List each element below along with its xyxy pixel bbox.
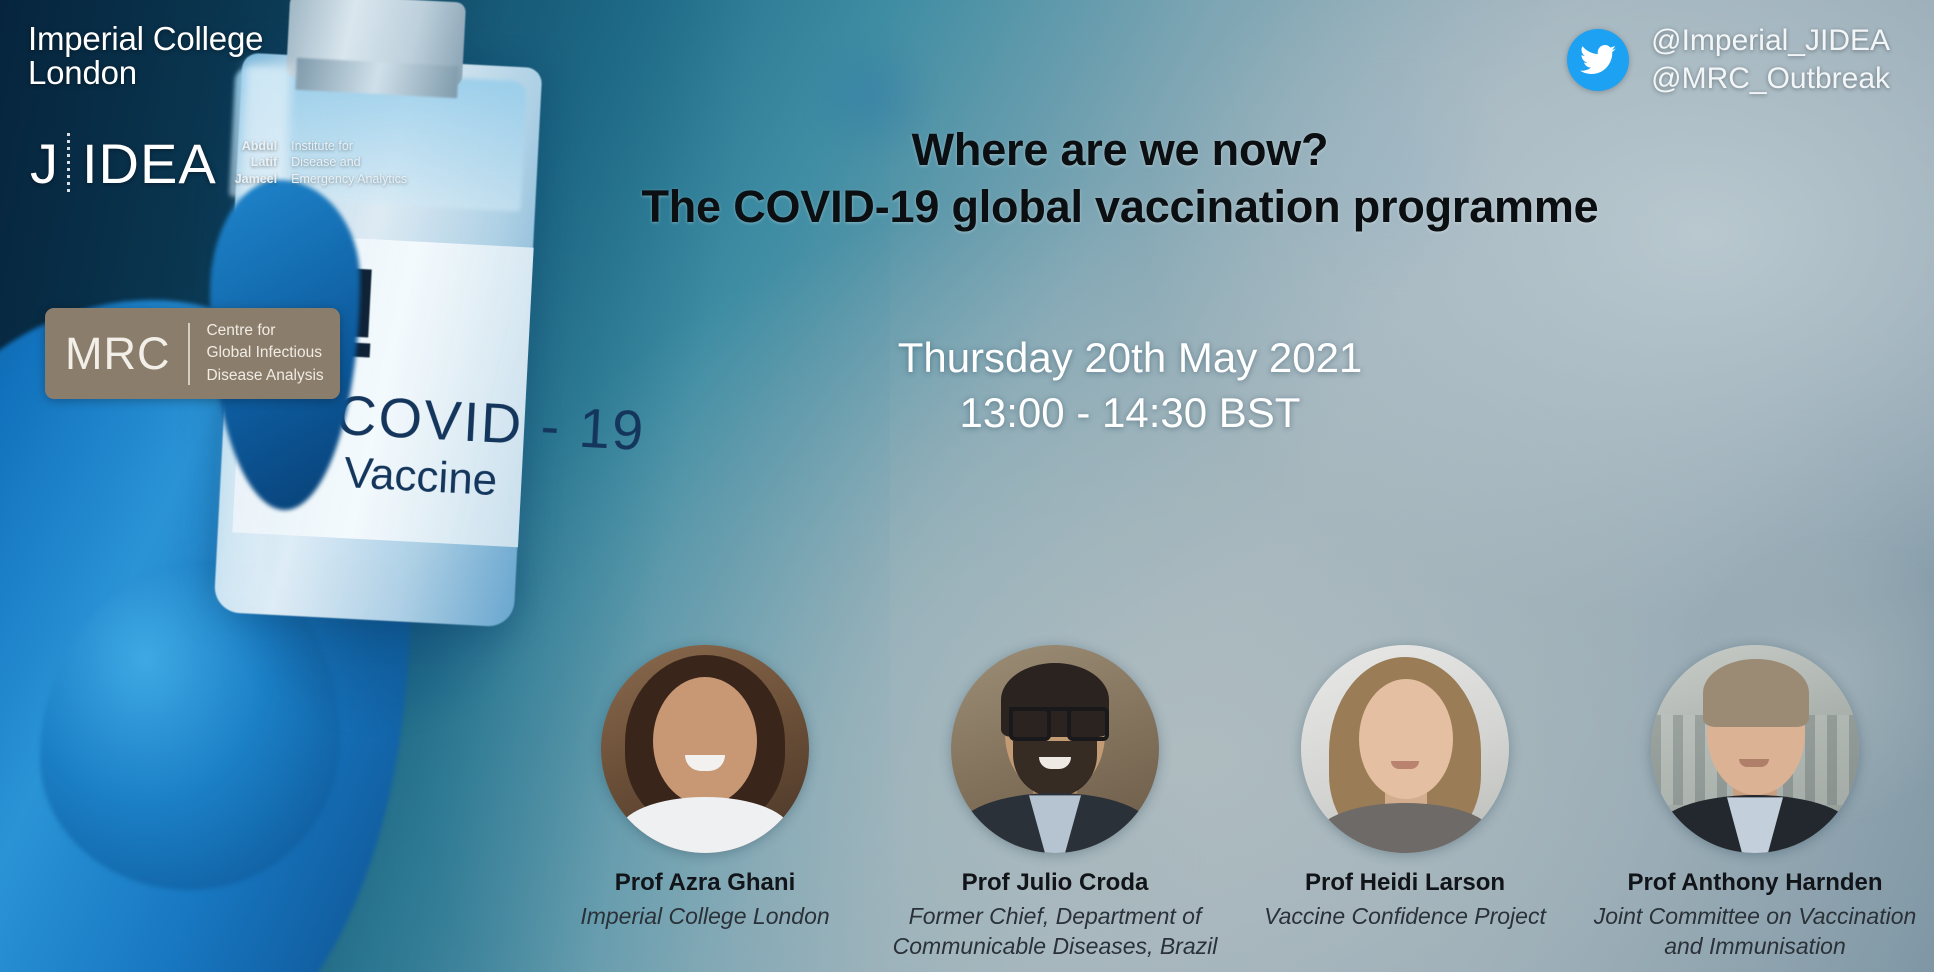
speaker-card: Prof Azra Ghani Imperial College London: [540, 645, 870, 932]
jidea-subtitle-institute: Institute for Disease and Emergency Anal…: [291, 138, 407, 188]
vial-label-vaccine-text: Vaccine: [343, 448, 499, 506]
speaker-name: Prof Heidi Larson: [1305, 869, 1505, 898]
speaker-affiliation: Joint Committee on Vaccination and Immun…: [1590, 902, 1920, 962]
jidea-wordmark: J IDEA: [30, 133, 217, 195]
mrc-acronym: MRC: [65, 331, 188, 376]
handle-mrc-outbreak[interactable]: @MRC_Outbreak: [1651, 60, 1890, 98]
jidea-dotted-rule-icon: [67, 133, 70, 195]
jidea-logo: J IDEA Abdul Latif Jameel Institute for …: [30, 133, 407, 195]
speaker-name: Prof Julio Croda: [962, 869, 1149, 898]
event-time: 13:00 - 14:30 BST: [600, 385, 1660, 440]
speaker-affiliation: Former Chief, Department of Communicable…: [890, 902, 1220, 962]
mrc-logo: MRC Centre for Global Infectious Disease…: [45, 308, 340, 399]
event-title-line1: Where are we now?: [560, 122, 1680, 179]
portrait-face: [653, 677, 757, 805]
portrait-face: [1359, 679, 1453, 799]
mrc-subtitle: Centre for Global Infectious Disease Ana…: [206, 320, 323, 387]
speaker-card: Prof Anthony Harnden Joint Committee on …: [1590, 645, 1920, 962]
speaker-list: Prof Azra Ghani Imperial College London …: [540, 645, 1920, 962]
jidea-mark-j: J: [30, 136, 59, 192]
jidea-mark-idea: IDEA: [82, 136, 217, 192]
event-date: Thursday 20th May 2021: [600, 330, 1660, 385]
imperial-logo-line2: London: [28, 56, 263, 90]
event-datetime: Thursday 20th May 2021 13:00 - 14:30 BST: [600, 330, 1660, 441]
imperial-college-logo: Imperial College London: [28, 22, 263, 89]
handle-imperial-jidea[interactable]: @Imperial_JIDEA: [1651, 22, 1890, 60]
webinar-promo-banner: COVID - 19 Vaccine Imperial College Lond…: [0, 0, 1934, 972]
portrait-hair: [1703, 659, 1809, 727]
speaker-name: Prof Anthony Harnden: [1627, 869, 1882, 898]
portrait-glasses-right: [1067, 707, 1109, 741]
jidea-subtitle-funder: Abdul Latif Jameel: [235, 138, 277, 188]
twitter-bird-icon[interactable]: [1567, 29, 1629, 91]
speaker-name: Prof Azra Ghani: [615, 869, 795, 898]
speaker-avatar: [1301, 645, 1509, 853]
mrc-divider: [188, 323, 190, 385]
speaker-avatar: [1651, 645, 1859, 853]
speaker-avatar: [601, 645, 809, 853]
social-handles: @Imperial_JIDEA @MRC_Outbreak: [1567, 22, 1890, 99]
social-handle-list: @Imperial_JIDEA @MRC_Outbreak: [1651, 22, 1890, 99]
jidea-subtitle: Abdul Latif Jameel Institute for Disease…: [235, 138, 407, 196]
imperial-logo-line1: Imperial College: [28, 22, 263, 56]
speaker-card: Prof Heidi Larson Vaccine Confidence Pro…: [1240, 645, 1570, 932]
speaker-avatar: [951, 645, 1159, 853]
event-title: Where are we now? The COVID-19 global va…: [560, 122, 1680, 235]
event-title-line2: The COVID-19 global vaccination programm…: [560, 179, 1680, 236]
speaker-affiliation: Vaccine Confidence Project: [1264, 902, 1546, 932]
speaker-card: Prof Julio Croda Former Chief, Departmen…: [890, 645, 1220, 962]
speaker-affiliation: Imperial College London: [580, 902, 829, 932]
portrait-glasses-left: [1009, 707, 1051, 741]
